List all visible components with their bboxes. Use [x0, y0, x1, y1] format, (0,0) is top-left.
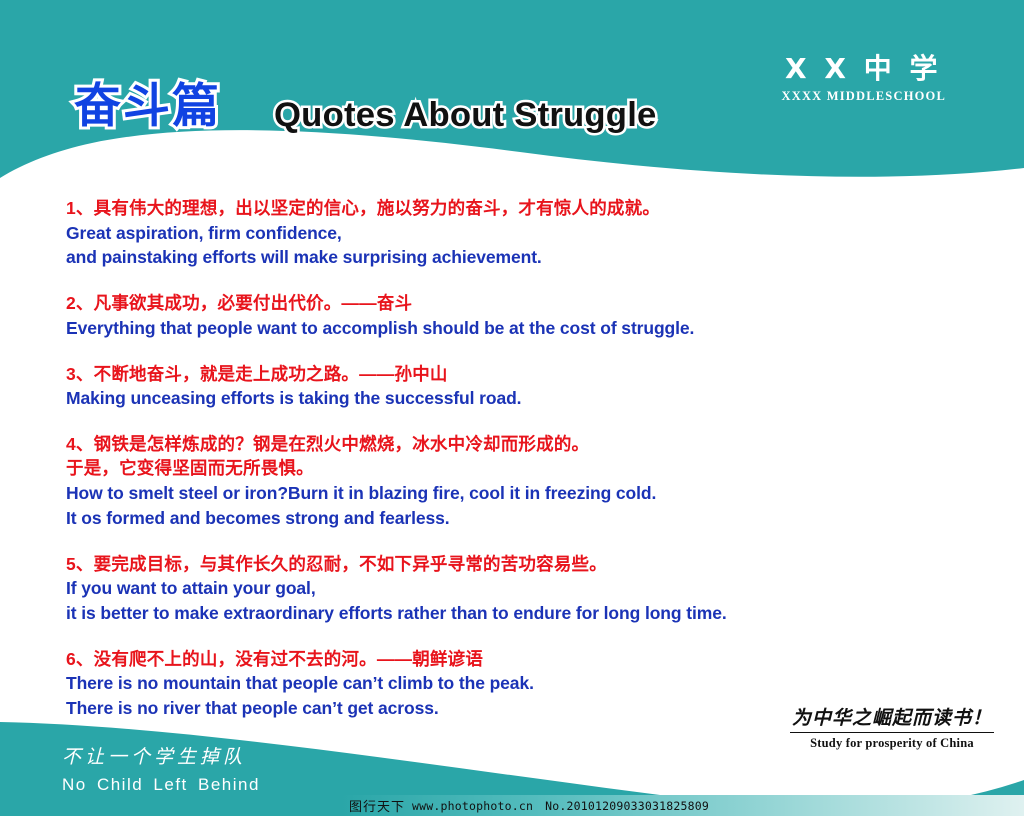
quote-line-en: It os formed and becomes strong and fear…	[66, 506, 966, 531]
watermark-site-cn: 图行天下	[349, 796, 405, 815]
school-name-en: XXXX MIDDLESCHOOL	[781, 90, 946, 103]
calligraphy-seal: 为中华之崛起而读书！ Study for prosperity of China	[790, 708, 994, 751]
slogan-en: No Child Left Behind	[62, 776, 260, 793]
quote-item: 4、钢铁是怎样炼成的？钢是在烈火中燃烧，冰水中冷却而形成的。 于是，它变得坚固而…	[66, 432, 966, 531]
quote-line-cn: 3、不断地奋斗，就是走上成功之路。——孙中山	[66, 362, 966, 387]
quote-line-cn: 6、没有爬不上的山，没有过不去的河。——朝鲜谚语	[66, 647, 966, 672]
page-title-cn: 奋斗篇	[74, 82, 221, 129]
quote-line-cn: 5、要完成目标，与其作长久的忍耐，不如下异乎寻常的苦功容易些。	[66, 552, 966, 577]
quotes-list: 1、具有伟大的理想，出以坚定的信心，施以努力的奋斗，才有惊人的成就。 Great…	[66, 196, 966, 721]
watermark-url: www.photophoto.cn	[412, 799, 533, 813]
slogan-cn: 不让一个学生掉队	[62, 748, 260, 767]
watermark-number: No.20101209033031825809	[545, 799, 709, 813]
quote-line-cn: 1、具有伟大的理想，出以坚定的信心，施以努力的奋斗，才有惊人的成就。	[66, 196, 966, 221]
quote-line-cn: 2、凡事欲其成功，必要付出代价。——奋斗	[66, 291, 966, 316]
school-name-cn: Ⅹ Ⅹ 中 学	[781, 55, 946, 83]
quote-line-cn: 4、钢铁是怎样炼成的？钢是在烈火中燃烧，冰水中冷却而形成的。	[66, 432, 966, 457]
quote-item: 1、具有伟大的理想，出以坚定的信心，施以努力的奋斗，才有惊人的成就。 Great…	[66, 196, 966, 270]
quote-line-en: and painstaking efforts will make surpri…	[66, 245, 966, 270]
quote-line-en: Everything that people want to accomplis…	[66, 316, 966, 341]
quote-line-en: Making unceasing efforts is taking the s…	[66, 386, 966, 411]
poster-canvas: 奋斗篇 Quotes About Struggle Ⅹ Ⅹ 中 学 XXXX M…	[0, 0, 1024, 816]
watermark-bar: 图行天下 www.photophoto.cn No.20101209033031…	[341, 795, 1024, 816]
quote-line-en: If you want to attain your goal,	[66, 576, 966, 601]
calligraphy-en: Study for prosperity of China	[790, 736, 994, 751]
slogan: 不让一个学生掉队 No Child Left Behind	[62, 748, 260, 793]
quote-line-en: it is better to make extraordinary effor…	[66, 601, 966, 626]
school-identity: Ⅹ Ⅹ 中 学 XXXX MIDDLESCHOOL	[781, 55, 946, 103]
header: 奋斗篇 Quotes About Struggle Ⅹ Ⅹ 中 学 XXXX M…	[0, 0, 1024, 180]
quote-line-en: Great aspiration, firm confidence,	[66, 221, 966, 246]
quote-line-en: There is no mountain that people can’t c…	[66, 671, 966, 696]
quote-item: 2、凡事欲其成功，必要付出代价。——奋斗 Everything that peo…	[66, 291, 966, 340]
quote-line-en: How to smelt steel or iron?Burn it in bl…	[66, 481, 966, 506]
quote-item: 5、要完成目标，与其作长久的忍耐，不如下异乎寻常的苦功容易些。 If you w…	[66, 552, 966, 626]
calligraphy-cn: 为中华之崛起而读书！	[790, 708, 994, 733]
page-title-en: Quotes About Struggle	[274, 98, 657, 132]
quote-item: 3、不断地奋斗，就是走上成功之路。——孙中山 Making unceasing …	[66, 362, 966, 411]
quote-line-cn: 于是，它变得坚固而无所畏惧。	[66, 456, 966, 481]
